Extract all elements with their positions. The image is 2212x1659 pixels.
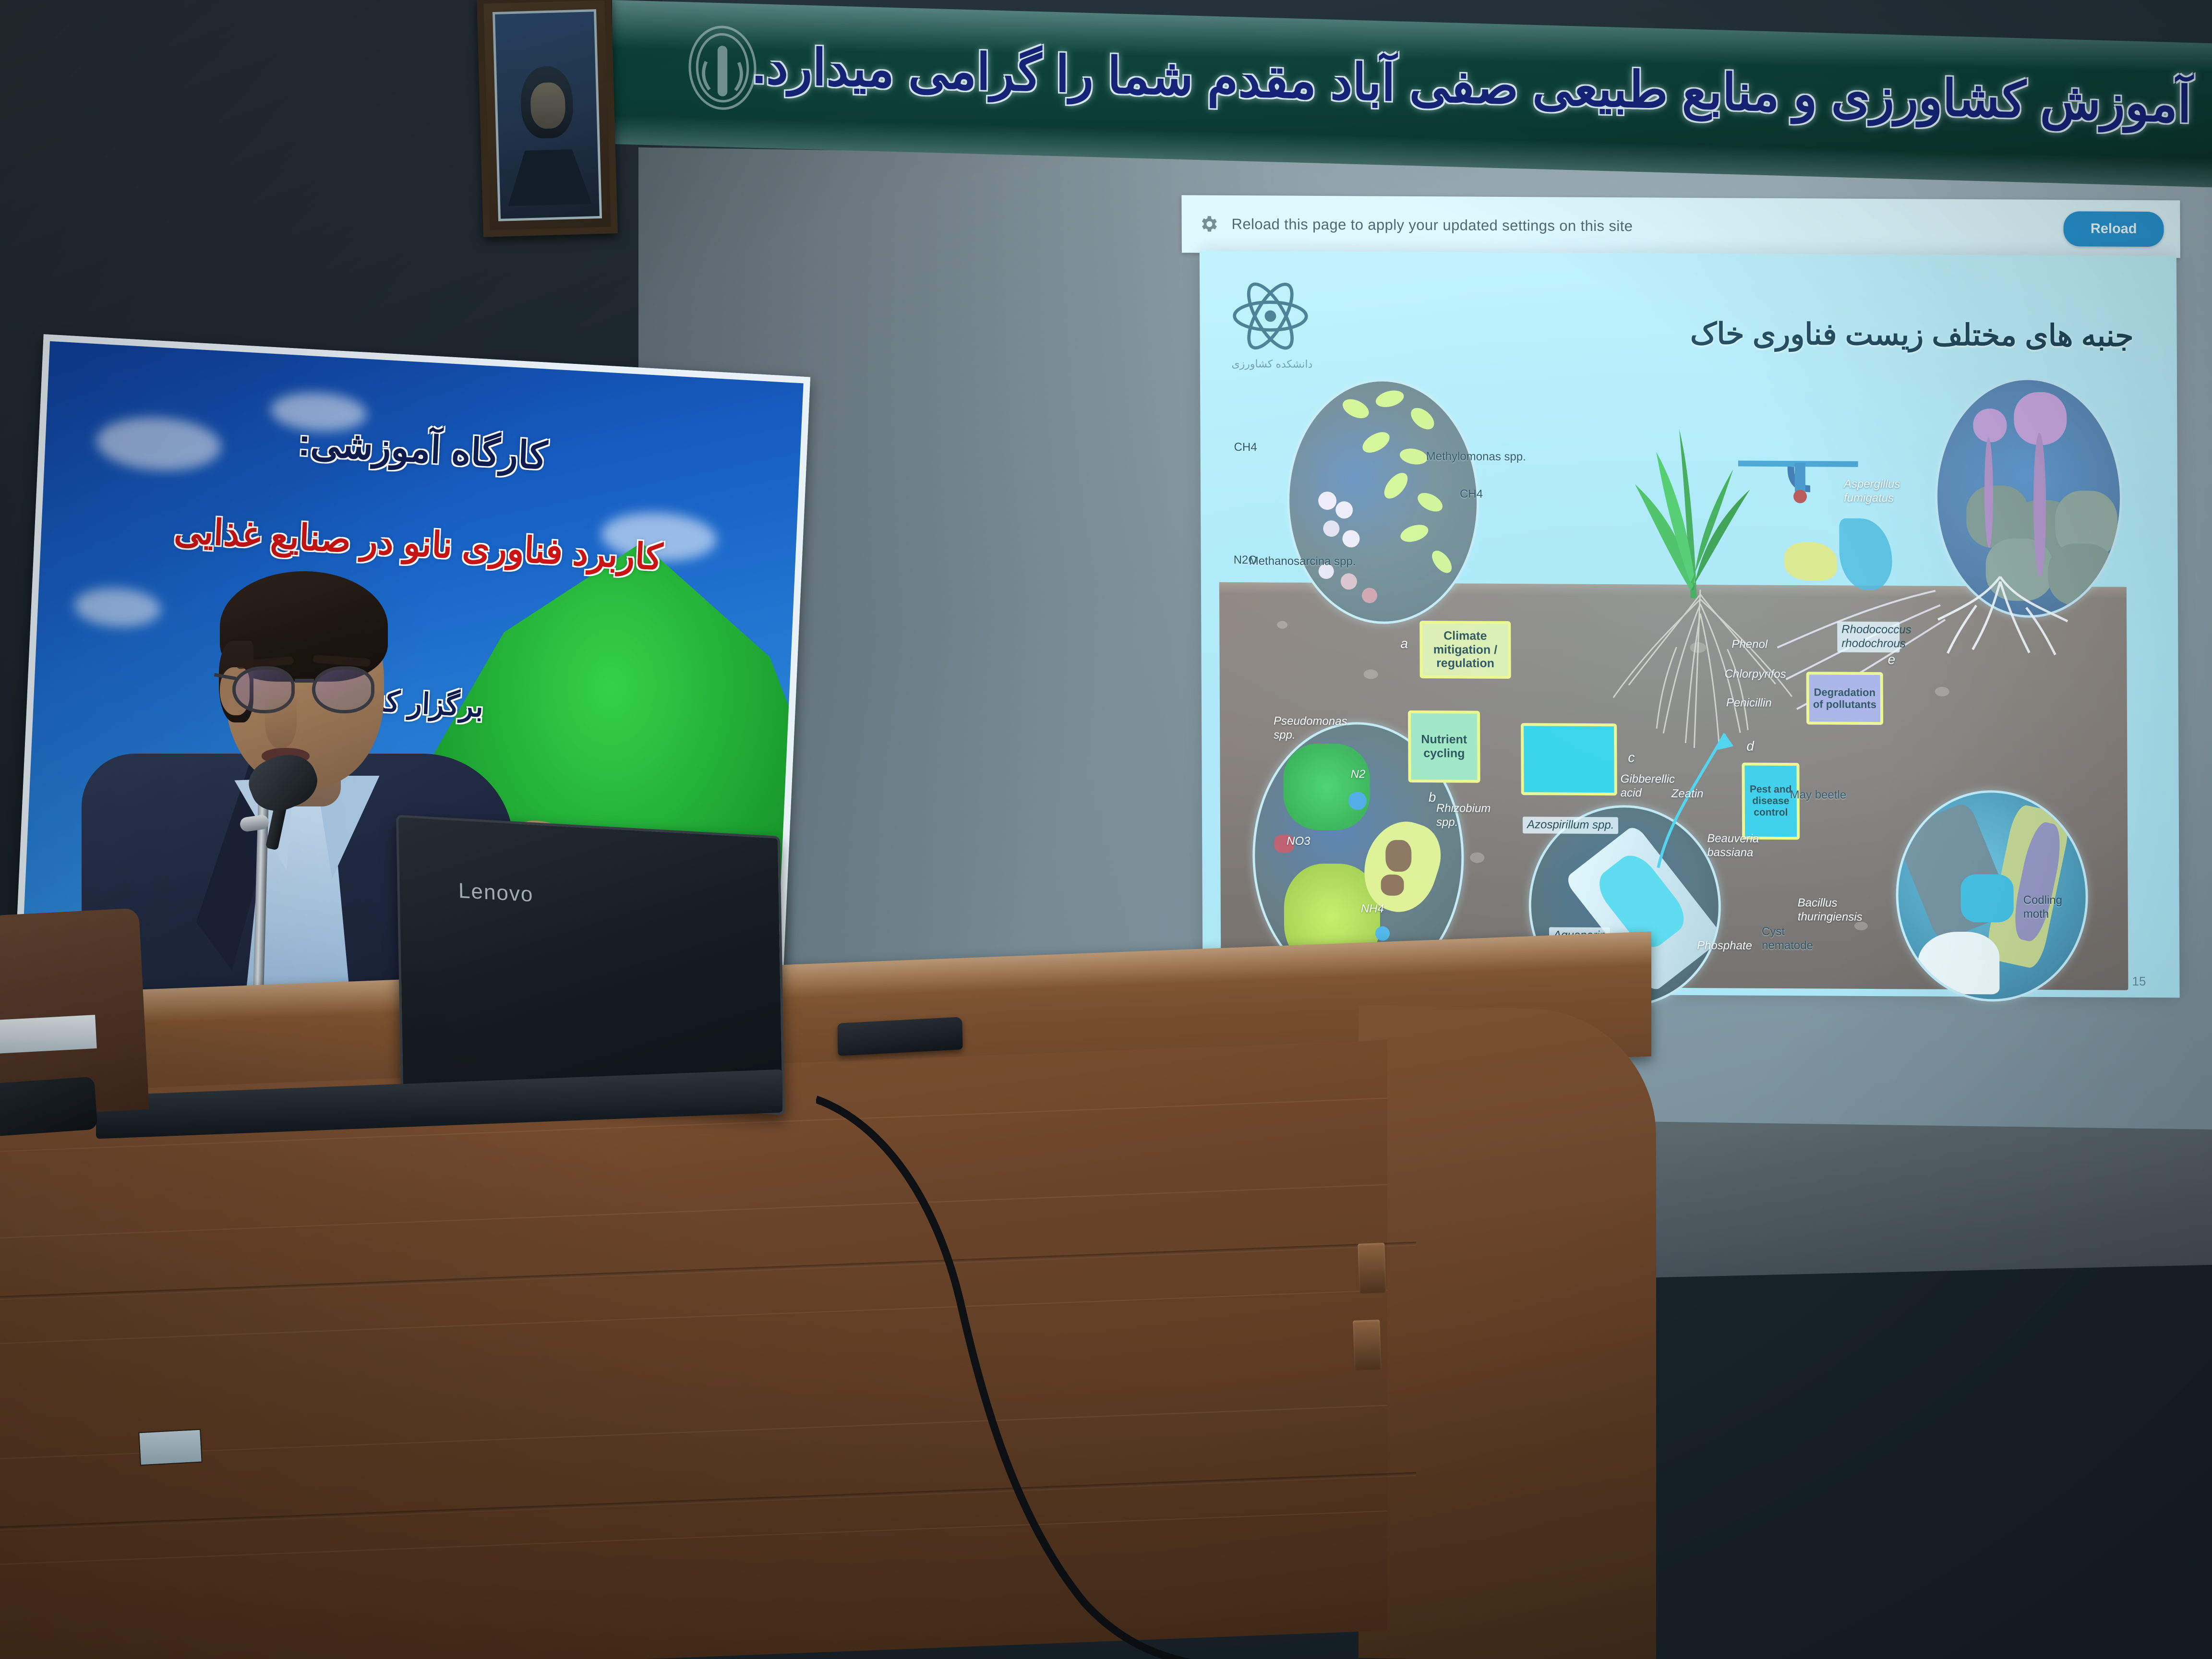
label-phenol: Phenol — [1731, 637, 1767, 651]
marker-d: d — [1746, 739, 1754, 754]
presenter-eyeglasses — [226, 662, 394, 720]
label-penicillin: Penicillin — [1726, 696, 1772, 710]
fertilizer-blob — [1784, 542, 1837, 581]
label-rhodococcus: Rhodococcus rhodochrous — [1837, 622, 1899, 652]
infobar-message: Reload this page to apply your updated s… — [1232, 216, 2051, 237]
slide-number: 15 — [2132, 974, 2146, 989]
islamic-republic-emblem-icon — [682, 21, 763, 115]
label-azospirillum: Azospirillum spp. — [1523, 817, 1619, 834]
marker-e: e — [1887, 652, 1895, 667]
portrait-robe — [506, 149, 592, 206]
desk-notch-upper — [1358, 1243, 1386, 1294]
gear-icon — [1198, 214, 1219, 235]
callout-pollutant-degradation: Degradation of pollutants — [1806, 672, 1883, 725]
label-rhizobium: Rhizobium spp. — [1436, 802, 1494, 829]
label-bacillus-thuringiensis: Bacillus thuringiensis — [1798, 896, 1855, 924]
label-methylomonas: Methylomonas spp. — [1426, 450, 1526, 464]
marker-b: b — [1429, 790, 1436, 805]
desk-inventory-sticker — [138, 1429, 202, 1466]
desk-side-panel — [1358, 1005, 1656, 1659]
presentation-clicker[interactable] — [837, 1017, 962, 1056]
presenter-nose — [265, 696, 297, 749]
label-no3: NO3 — [1286, 835, 1310, 849]
label-phosphate: Phosphate — [1697, 939, 1752, 953]
eyeglass-lens-right — [312, 666, 374, 713]
label-cyst-nematode: Cyst nematode — [1762, 925, 1805, 953]
desk-notch-lower — [1353, 1320, 1382, 1370]
methanotroph-micrograph — [1286, 379, 1479, 625]
portrait-image — [493, 9, 602, 221]
label-beauveria: Beauveria bassiana — [1707, 832, 1760, 860]
label-ch4-left: CH4 — [1234, 441, 1257, 455]
marker-c: c — [1628, 750, 1635, 765]
laptop-brand-logo: Lenovo — [458, 879, 534, 907]
slide-title: جنبه های مختلف زیست فناوری خاک — [1605, 315, 2133, 353]
label-may-beetle: May beetle — [1790, 788, 1847, 802]
callout-climate-mitigation: Climate mitigation / regulation — [1419, 621, 1511, 679]
marker-a: a — [1400, 636, 1408, 651]
label-zeatin: Zeatin — [1671, 787, 1704, 801]
label-ch4-right: CH4 — [1460, 488, 1483, 502]
label-chlorpyrifos: Chlorpyrifos — [1725, 667, 1786, 681]
reload-button[interactable]: Reload — [2064, 211, 2164, 247]
papers-on-desk — [0, 1015, 97, 1054]
projected-slide: Reload this page to apply your updated s… — [1174, 189, 2200, 1010]
portrait-face — [530, 82, 566, 129]
laptop-lid — [396, 815, 785, 1115]
atom-icon — [1229, 275, 1311, 357]
browser-settings-infobar: Reload this page to apply your updated s… — [1181, 195, 2180, 258]
label-methanosarcina: Methanosarcina spp. — [1249, 554, 1356, 569]
callout-nutrient-cycling: Nutrient cycling — [1408, 710, 1480, 783]
label-nh4: NH4 — [1361, 902, 1384, 916]
eyeglass-bridge — [295, 679, 314, 683]
label-n2: N2 — [1351, 768, 1366, 781]
label-pseudomonas: Pseudomonas spp. — [1274, 714, 1336, 742]
water-shape — [1839, 518, 1892, 591]
label-codling-moth: Codling moth — [2023, 894, 2062, 922]
callout-plant-growth-promotion — [1521, 723, 1617, 795]
label-gibberellic-acid: Gibberellic acid — [1621, 772, 1673, 800]
irrigation-icon — [1738, 444, 1859, 530]
slide-logo-caption: دانشکده کشاورزی — [1219, 358, 1325, 371]
lecture-hall-scene: Reload this page to apply your updated s… — [0, 0, 2212, 1659]
label-aspergillus: Aspergillus fumigatus — [1844, 478, 1911, 505]
slide-canvas: دانشکده کشاورزی جنبه های مختلف زیست فناو… — [1200, 251, 2180, 998]
framed-portrait — [477, 0, 618, 237]
eyeglass-case — [0, 1076, 98, 1136]
